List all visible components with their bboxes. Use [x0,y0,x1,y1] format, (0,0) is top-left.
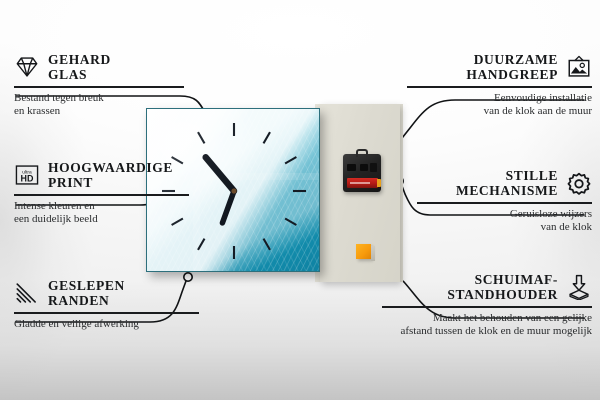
feature-heading: SCHUIMAF- STANDHOUDER [382,272,592,302]
feature-divider [382,306,592,308]
ultra-hd-icon-hd-text: HD [21,174,34,184]
feature-gehard-glas: GEHARD GLAS Bestand tegen breuk en krass… [14,52,184,119]
feature-title: SCHUIMAF- STANDHOUDER [447,272,558,302]
feature-description: Gladde en veilige afwerking [14,318,199,332]
feature-hoogwaardige-print: ultra HD HOOGWAARDIGE PRINT Intense kleu… [14,160,189,227]
feature-title: HOOGWAARDIGE PRINT [48,160,173,190]
feature-title: DUURZAME HANDGREEP [466,52,558,82]
feature-description: Geruisloze wijzers van de klok [417,208,592,235]
feature-divider [14,312,199,314]
feature-title: GESLEPEN RANDEN [48,278,125,308]
clock-tick [264,132,271,143]
feature-description: Bestand tegen breuk en krassen [14,92,184,119]
clock-movement-box [343,154,381,192]
feature-divider [407,86,592,88]
feature-divider [417,202,592,204]
feature-stille-mechanisme: STILLE MECHANISME Geruisloze wijzers van… [417,168,592,235]
ultra-hd-icon: ultra HD [14,162,40,188]
movement-slot-c [370,163,377,172]
foam-spacer [356,244,371,259]
infographic-stage: GEHARD GLAS Bestand tegen breuk en krass… [0,0,600,400]
feature-geslepen-randen: GESLEPEN RANDEN Gladde en veilige afwerk… [14,278,199,331]
foam-spacer-side [371,246,375,261]
clock-tick [285,157,296,164]
clock-tick [264,239,271,250]
movement-slot-a [347,164,356,171]
clock-hour-hand [206,157,234,191]
picture-frame-icon [566,54,592,80]
battery-label-strip [350,182,370,184]
feature-heading: ultra HD HOOGWAARDIGE PRINT [14,160,189,190]
feature-title: STILLE MECHANISME [456,168,558,198]
spacer-arrow-icon [566,274,592,300]
clock-tick [285,219,296,226]
aa-battery [347,178,378,188]
feature-description: Intense kleuren en een duidelijk beeld [14,200,189,227]
feature-heading: DUURZAME HANDGREEP [407,52,592,82]
feature-heading: STILLE MECHANISME [417,168,592,198]
clock-center-hub [231,188,236,193]
feature-description: Eenvoudige installatie van de klok aan d… [407,92,592,119]
movement-hanger [356,149,368,157]
feature-heading: GESLEPEN RANDEN [14,278,199,308]
feature-divider [14,194,189,196]
feature-schuimafstandhouder: SCHUIMAF- STANDHOUDER Maakt het behouden… [382,272,592,339]
feature-title: GEHARD GLAS [48,52,111,82]
clock-tick [198,132,205,143]
gear-icon [566,170,592,196]
feature-duurzame-handgreep: DUURZAME HANDGREEP Eenvoudige installati… [407,52,592,119]
diamond-icon [14,54,40,80]
clock-minute-hand [222,191,234,223]
feature-heading: GEHARD GLAS [14,52,184,82]
battery-positive-cap [377,179,381,187]
bevelled-edges-icon [14,280,40,306]
feature-divider [14,86,184,88]
feature-description: Maakt het behouden van een gelijke afsta… [382,312,592,339]
clock-tick [198,239,205,250]
movement-slot-b [360,164,368,171]
